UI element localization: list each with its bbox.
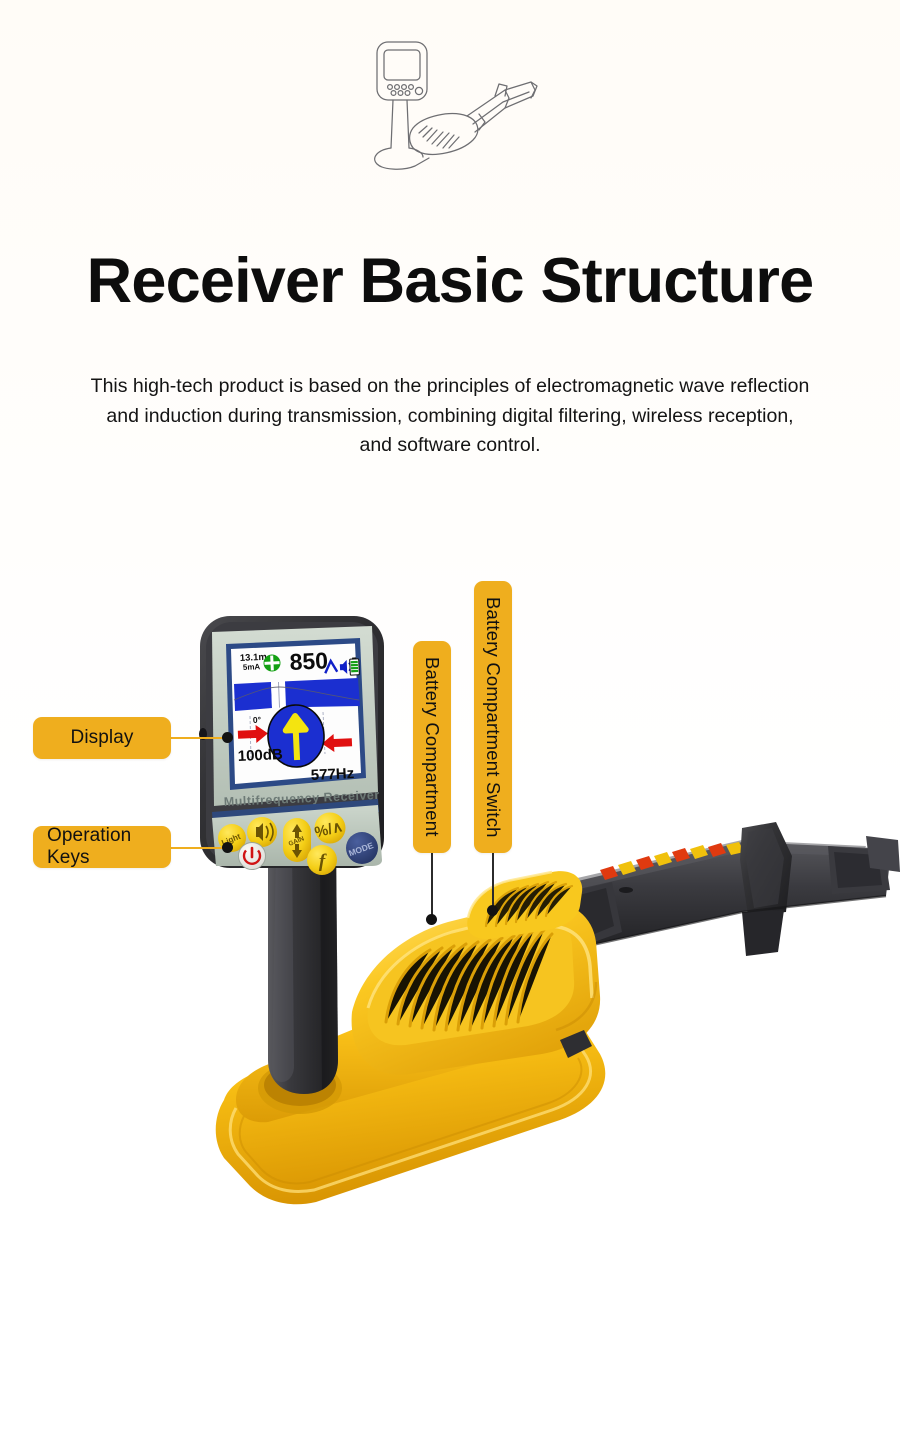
screen-current-value: 5mA [243,662,261,672]
hero-illustration [0,36,900,176]
callout-battery-compartment[interactable]: Battery Compartment [413,641,451,853]
leader-dot-operation-keys [222,842,233,853]
screen-signal-strength: 850 [289,647,329,675]
battery-full-icon [350,657,360,675]
key-gain[interactable]: GAIN [283,818,311,862]
receiver-line-art-icon [355,36,545,176]
key-frequency[interactable]: f [307,845,337,875]
key-power[interactable] [239,843,266,870]
page-title: Receiver Basic Structure [0,248,900,314]
screen-angle-value: 0° [253,715,262,725]
screen-gain-value: 100dB [237,746,283,765]
leader-line-operation-keys [171,847,227,849]
leader-line-display [171,737,227,739]
device-handle [268,840,338,1094]
callout-battery-compartment-switch[interactable]: Battery Compartment Switch [474,581,512,853]
screen-frequency-value: 577Hz [310,765,354,784]
leader-dot-battery-switch [487,905,498,916]
leader-line-battery-switch [492,853,494,910]
leader-line-battery-compartment [431,853,433,919]
leader-dot-battery-compartment [426,914,437,925]
page-subtitle: This high-tech product is based on the p… [90,372,810,461]
key-mode[interactable]: MODE [346,832,378,864]
callout-display[interactable]: Display [33,717,171,759]
receiver-head: 13.1m 5mA 850 [199,616,384,875]
callout-operation-keys[interactable]: Operation Keys [33,826,171,868]
leader-dot-display [222,732,233,743]
lcd-screen: 13.1m 5mA 850 [231,644,361,785]
